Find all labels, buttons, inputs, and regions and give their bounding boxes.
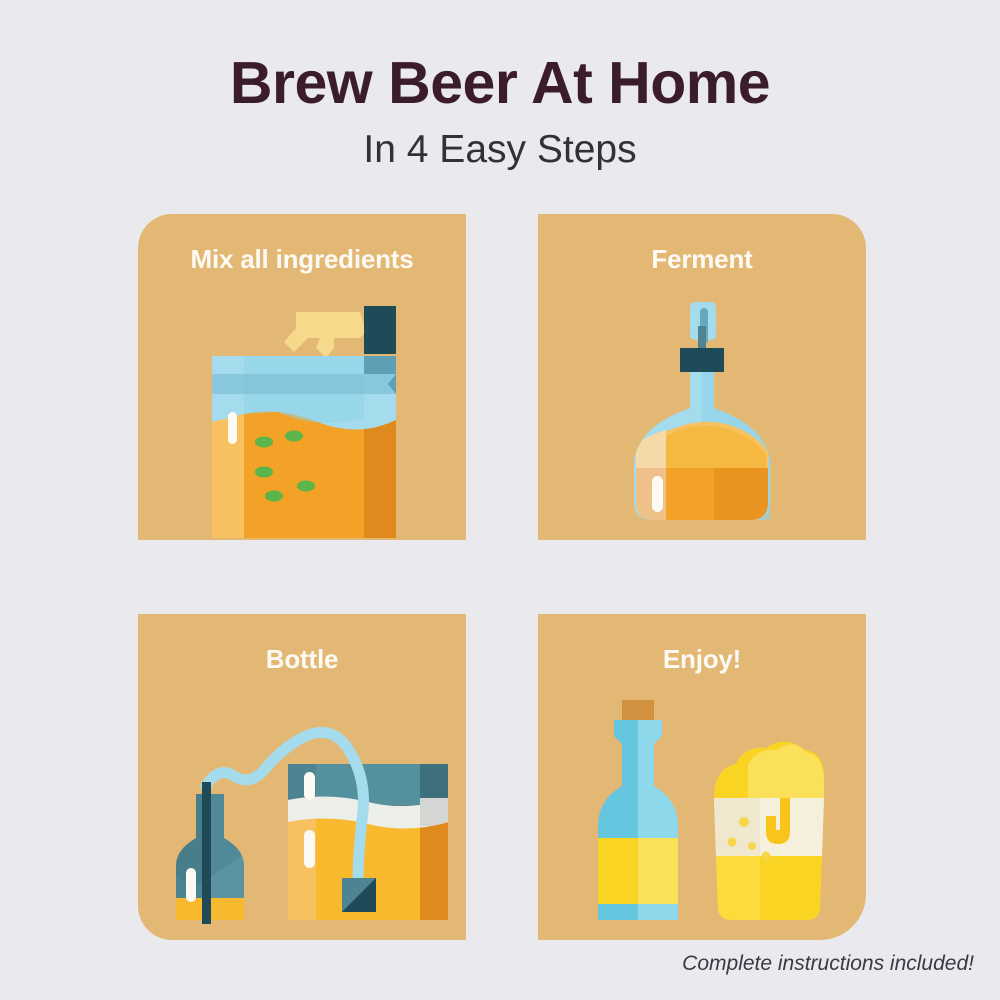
carboy-with-airlock-icon [538,290,866,540]
fermenting-bucket-icon [212,356,396,538]
bucket-body-highlight-icon [304,830,315,868]
sleeve-cuff-icon [364,306,396,354]
gloved-hand-icon [284,312,366,358]
bucket-top-highlight-icon [304,772,315,800]
tube-weight-icon [342,878,376,912]
page-title: Brew Beer At Home [0,52,1000,115]
page-subtitle: In 4 Easy Steps [0,129,1000,172]
step-card-title: Enjoy! [538,644,866,675]
airlock-icon [690,302,716,352]
bucket-highlight-icon [228,412,237,444]
racking-cane-icon [202,782,211,924]
bottle-and-beer-glass-icon [538,690,866,940]
footer-note: Complete instructions included! [682,952,974,976]
step-card-title: Bottle [138,644,466,675]
steps-grid: Mix all ingredients [138,214,866,940]
header: Brew Beer At Home In 4 Easy Steps [0,52,1000,171]
stopper-icon [680,348,724,372]
bottle-highlight-icon [186,868,196,902]
step-card-title: Ferment [538,244,866,275]
capped-bottle-icon [598,700,678,920]
step-card-bottle[interactable]: Bottle [138,614,466,940]
step-card-mix-all-ingredients[interactable]: Mix all ingredients [138,214,466,540]
siphon-bottling-icon [138,690,466,940]
carboy-highlight-icon [652,476,663,512]
pint-glass-icon [714,741,824,920]
step-card-ferment[interactable]: Ferment [538,214,866,540]
step-card-enjoy[interactable]: Enjoy! [538,614,866,940]
glass-carboy-icon [634,372,770,520]
poster-canvas: Brew Beer At Home In 4 Easy Steps Mix al… [0,0,1000,1000]
hand-adding-hops-to-bucket-icon [138,290,466,540]
step-card-title: Mix all ingredients [138,244,466,275]
